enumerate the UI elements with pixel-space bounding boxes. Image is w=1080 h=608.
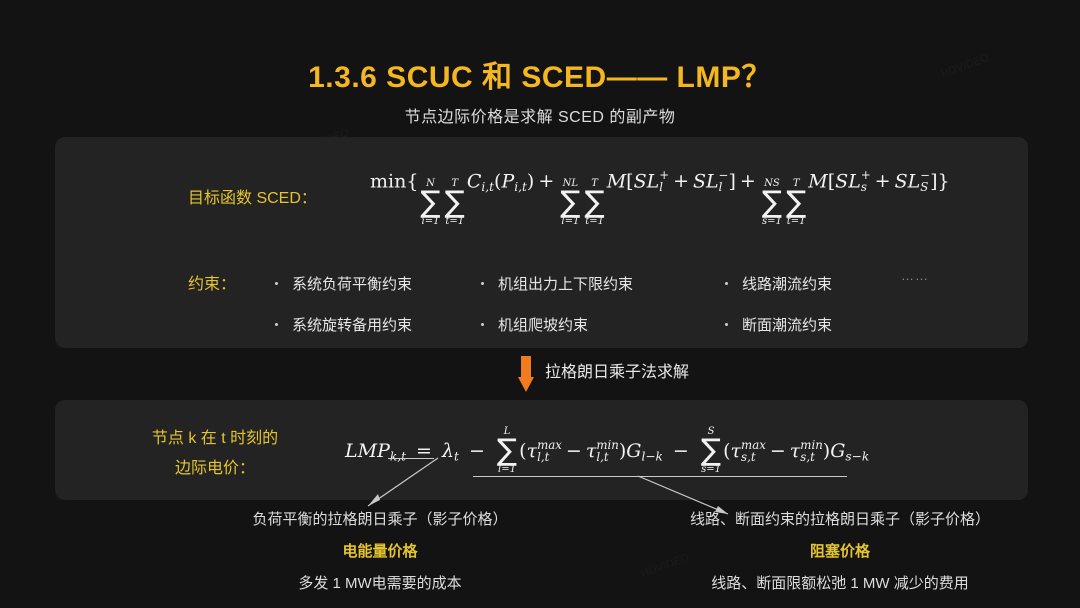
constraints-label: 约束：: [188, 272, 236, 298]
page-title: 1.3.6 SCUC 和 SCED—— LMP？: [0, 52, 1080, 96]
list-item: 系统旋转备用约束: [275, 314, 481, 335]
list-item: 断面潮流约束: [725, 314, 975, 335]
list-item: 系统负荷平衡约束: [275, 273, 481, 294]
slide-root: HDVIDEO HDVIDEO HDVIDEO HDVIDEO HDVIDEO …: [0, 0, 1080, 608]
objective-formula: min{N∑i=1T∑t=1Ci,t(Pi,t)+NL∑l=1T∑t=1M[SL…: [370, 170, 950, 228]
bullet-dot-icon: [481, 282, 484, 285]
list-item: 机组出力上下限约束: [481, 273, 725, 294]
page-subtitle: 节点边际价格是求解 SCED 的副产物: [0, 103, 1080, 127]
arrow-stem: [521, 356, 531, 378]
bullet-dot-icon: [725, 282, 728, 285]
list-item-label: 机组出力上下限约束: [498, 273, 633, 294]
constraints-list: 系统负荷平衡约束 机组出力上下限约束 线路潮流约束 系统旋转备用约束 机组爬坡约…: [275, 263, 975, 345]
congestion-price-annotation: 线路、断面约束的拉格朗日乘子（影子价格） 阻塞价格 线路、断面限额松弛 1 MW…: [620, 508, 1060, 593]
objective-label: 目标函数 SCED：: [188, 186, 317, 212]
congestion-meaning: 线路、断面限额松弛 1 MW 减少的费用: [620, 572, 1060, 593]
down-arrow-icon: [518, 356, 534, 392]
lmp-label-line1: 节点 k 在 t 时刻的: [152, 430, 278, 447]
transition-caption: 拉格朗日乘子法求解: [545, 358, 689, 382]
list-item: 机组爬坡约束: [481, 314, 725, 335]
energy-meaning: 多发 1 MW电需要的成本: [180, 572, 580, 593]
list-item-label: 线路潮流约束: [742, 273, 832, 294]
arrow-head: [518, 377, 534, 392]
energy-description: 负荷平衡的拉格朗日乘子（影子价格）: [180, 508, 580, 529]
bullet-dot-icon: [481, 323, 484, 326]
list-item-label: 系统旋转备用约束: [292, 314, 412, 335]
list-item: 线路潮流约束: [725, 273, 975, 294]
lmp-label: 节点 k 在 t 时刻的 边际电价：: [140, 424, 290, 484]
congestion-name: 阻塞价格: [620, 540, 1060, 561]
energy-price-annotation: 负荷平衡的拉格朗日乘子（影子价格） 电能量价格 多发 1 MW电需要的成本: [180, 508, 580, 593]
congestion-description: 线路、断面约束的拉格朗日乘子（影子价格）: [620, 508, 1060, 529]
list-item-label: 机组爬坡约束: [498, 314, 588, 335]
bullet-dot-icon: [275, 323, 278, 326]
list-item-label: 系统负荷平衡约束: [292, 273, 412, 294]
bullet-dot-icon: [275, 282, 278, 285]
energy-name: 电能量价格: [180, 540, 580, 561]
bullet-dot-icon: [725, 323, 728, 326]
constraints-ellipsis: ……: [901, 268, 929, 283]
list-item-label: 断面潮流约束: [742, 314, 832, 335]
lmp-label-line2: 边际电价：: [140, 454, 290, 484]
